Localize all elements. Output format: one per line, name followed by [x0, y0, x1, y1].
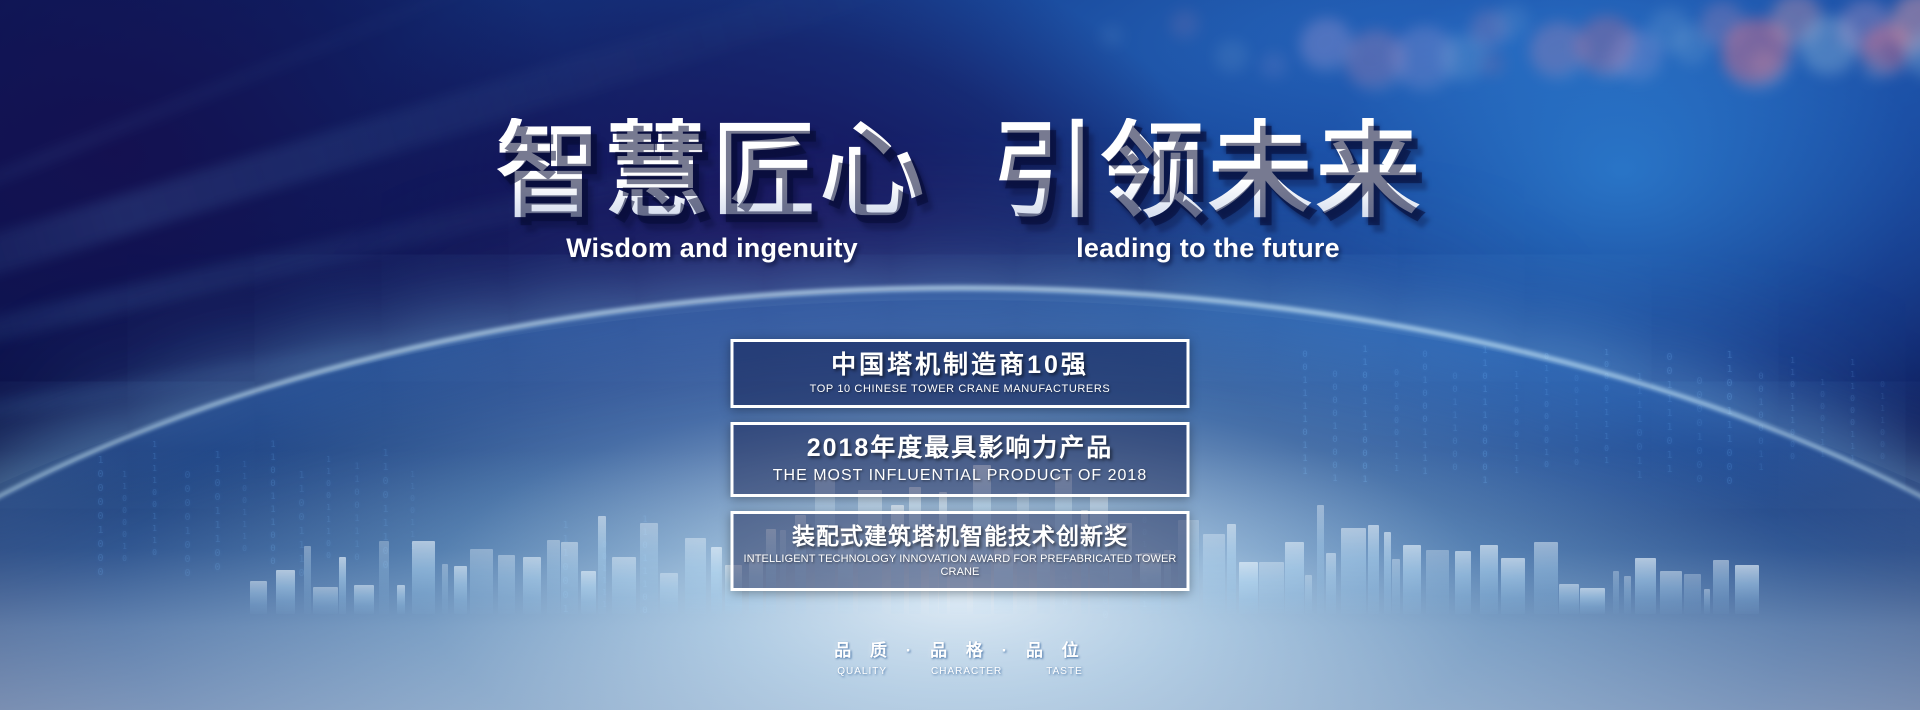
award-title-chinese: 中国塔机制造商10强	[740, 351, 1181, 380]
tagline-word-taste: TASTE	[1046, 666, 1082, 677]
tagline-word-character: CHARACTER	[931, 666, 1002, 677]
award-badge: 装配式建筑塔机智能技术创新奖 INTELLIGENT TECHNOLOGY IN…	[731, 511, 1190, 591]
tagline-english: QUALITY CHARACTER TASTE	[750, 666, 1170, 677]
headline-row: 智慧匠心 Wisdom and ingenuity 引领未来 leading t…	[0, 118, 1920, 264]
promotional-banner: 1000010001100001011110011100000100011001…	[0, 0, 1920, 710]
award-title-english: INTELLIGENT TECHNOLOGY INNOVATION AWARD …	[740, 553, 1181, 579]
award-title-english: THE MOST INFLUENTIAL PRODUCT OF 2018	[740, 466, 1181, 485]
headline-right-chinese: 引领未来	[992, 118, 1424, 227]
award-title-english: TOP 10 CHINESE TOWER CRANE MANUFACTURERS	[740, 383, 1181, 396]
award-badge: 2018年度最具影响力产品 THE MOST INFLUENTIAL PRODU…	[731, 422, 1190, 497]
award-list: 中国塔机制造商10强 TOP 10 CHINESE TOWER CRANE MA…	[731, 339, 1190, 591]
tagline-chinese: 品 质 · 品 格 · 品 位	[750, 636, 1170, 661]
tagline: 品 质 · 品 格 · 品 位 QUALITY CHARACTER TASTE	[750, 636, 1170, 677]
award-title-chinese: 装配式建筑塔机智能技术创新奖	[740, 523, 1181, 550]
headline-left: 智慧匠心 Wisdom and ingenuity	[496, 118, 928, 264]
headline-left-chinese: 智慧匠心	[496, 118, 928, 227]
award-badge: 中国塔机制造商10强 TOP 10 CHINESE TOWER CRANE MA…	[731, 339, 1190, 408]
tagline-word-quality: QUALITY	[837, 666, 887, 677]
headline-right-english: leading to the future	[992, 233, 1424, 264]
award-title-chinese: 2018年度最具影响力产品	[740, 434, 1181, 463]
headline-left-english: Wisdom and ingenuity	[496, 233, 928, 264]
headline-right: 引领未来 leading to the future	[992, 118, 1424, 264]
